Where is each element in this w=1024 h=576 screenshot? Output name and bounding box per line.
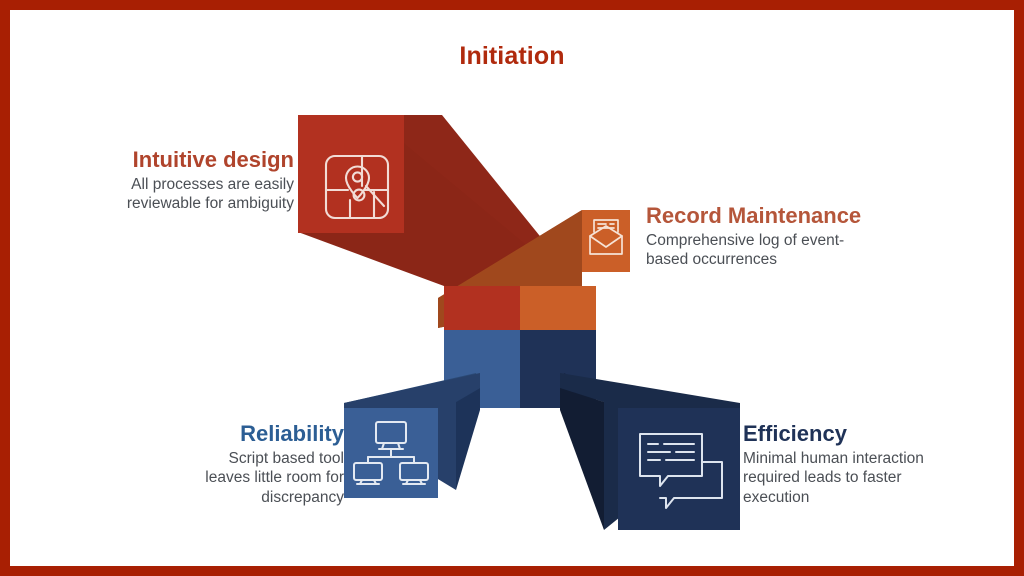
segment-arm-reliability[interactable] [344, 373, 480, 498]
callout-body: All processes are easily reviewable for … [76, 175, 294, 214]
callout-body: Script based tool leaves little room for… [152, 449, 344, 508]
callout-record-maintenance: Record Maintenance Comprehensive log of … [646, 204, 936, 270]
callout-intuitive-design: Intuitive design All processes are easil… [76, 148, 294, 214]
callout-body: Comprehensive log of event- based occurr… [646, 231, 936, 270]
center-quadrant-top-right [520, 286, 596, 330]
callout-heading: Intuitive design [76, 148, 294, 173]
slide-canvas: Initiation [10, 10, 1014, 566]
callout-heading: Reliability [152, 422, 344, 447]
callout-body: Minimal human interaction required leads… [743, 449, 983, 508]
slide-frame: Initiation [0, 0, 1024, 576]
center-quadrant-top-left [444, 286, 520, 330]
arm-underside-reliability [456, 388, 480, 490]
callout-heading: Efficiency [743, 422, 983, 447]
segment-arm-efficiency[interactable] [560, 373, 740, 530]
arm-underside-efficiency [560, 388, 604, 530]
callout-heading: Record Maintenance [646, 204, 936, 229]
callout-reliability: Reliability Script based tool leaves lit… [152, 422, 344, 507]
callout-efficiency: Efficiency Minimal human interaction req… [743, 422, 983, 507]
